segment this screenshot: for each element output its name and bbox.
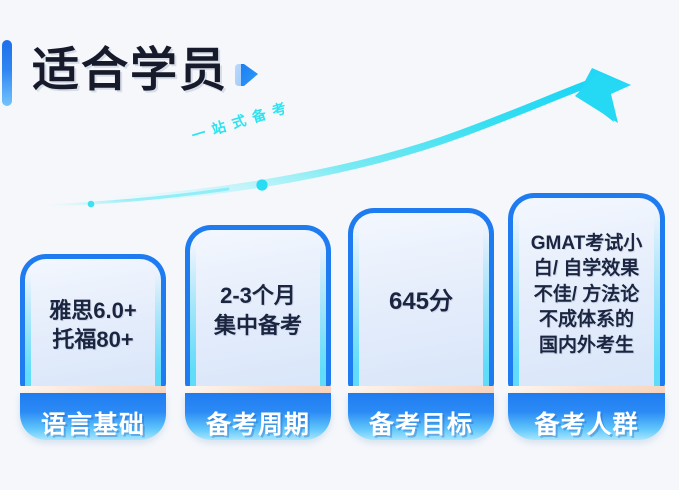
card-prep-audience[interactable]: GMAT考试小 白/ 自学效果 不佳/ 方法论 不成体系的 国内外考生 备考人群: [508, 193, 665, 440]
card-prep-target[interactable]: 645分 备考目标: [348, 208, 494, 440]
card-divider-strip: [508, 386, 665, 393]
card-body: 645分: [348, 208, 494, 391]
card-content: 雅思6.0+ 托福80+: [45, 296, 140, 355]
card-body: 雅思6.0+ 托福80+: [20, 254, 166, 391]
card-label-band: 备考周期: [185, 393, 331, 440]
card-content-line: 雅思6.0+: [49, 296, 136, 325]
edge-glow-right: [155, 273, 161, 391]
card-content-line: 国内外考生: [531, 333, 643, 358]
infographic-canvas: 适合学员: [0, 0, 679, 490]
card-label-band: 备考人群: [508, 393, 665, 440]
card-divider-strip: [185, 386, 331, 393]
card-content-line: 托福80+: [49, 325, 136, 354]
card-label: 备考目标: [369, 405, 473, 441]
edge-glow-right: [483, 227, 489, 391]
card-content-line: 不成体系的: [531, 307, 643, 332]
card-label: 备考人群: [534, 405, 638, 441]
card-content-line: GMAT考试小: [531, 231, 643, 256]
card-divider-strip: [348, 386, 494, 393]
card-content: GMAT考试小 白/ 自学效果 不佳/ 方法论 不成体系的 国内外考生: [527, 231, 647, 358]
card-content-line: 645分: [389, 286, 453, 318]
card-content: 2-3个月 集中备考: [210, 281, 306, 340]
edge-glow-left: [190, 244, 196, 391]
edge-glow-left: [25, 273, 31, 391]
card-prep-period[interactable]: 2-3个月 集中备考 备考周期: [185, 225, 331, 440]
card-body: GMAT考试小 白/ 自学效果 不佳/ 方法论 不成体系的 国内外考生: [508, 193, 665, 391]
edge-glow-right: [654, 212, 660, 391]
card-label: 备考周期: [206, 405, 310, 441]
card-content-line: 集中备考: [214, 311, 302, 340]
card-content-line: 不佳/ 方法论: [531, 282, 643, 307]
card-body: 2-3个月 集中备考: [185, 225, 331, 391]
edge-glow-left: [353, 227, 359, 391]
edge-glow-right: [320, 244, 326, 391]
card-content-line: 2-3个月: [214, 281, 302, 310]
card-language-basis[interactable]: 雅思6.0+ 托福80+ 语言基础: [20, 254, 166, 440]
card-divider-strip: [20, 386, 166, 393]
edge-glow-left: [513, 212, 519, 391]
card-label-band: 备考目标: [348, 393, 494, 440]
card-label-band: 语言基础: [20, 393, 166, 440]
card-content: 645分: [385, 286, 457, 318]
card-content-line: 白/ 自学效果: [531, 256, 643, 281]
card-label: 语言基础: [41, 405, 145, 441]
